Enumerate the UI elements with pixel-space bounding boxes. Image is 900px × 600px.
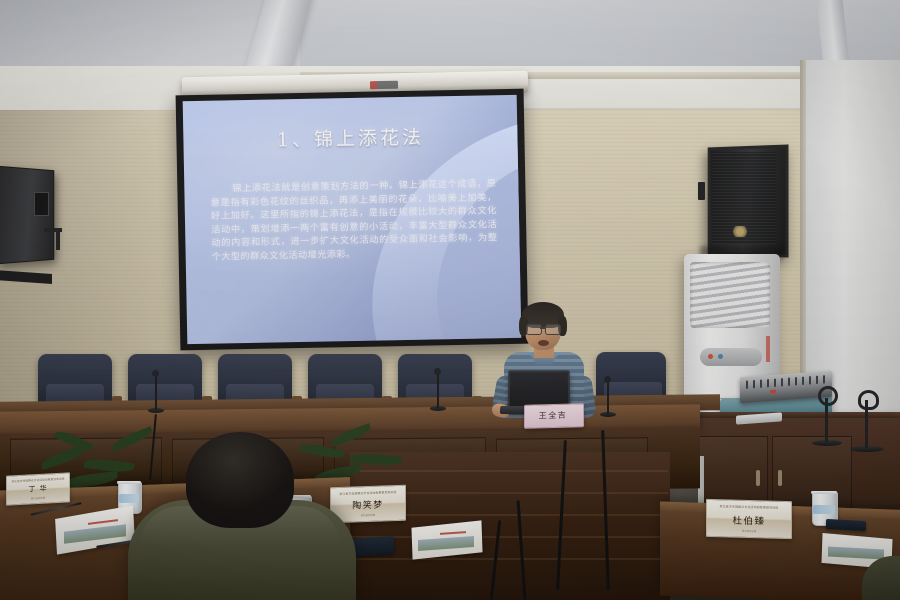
glasses-icon-right-lens [545,324,561,335]
air-conditioner-vent-strip [766,336,770,362]
speaker-bracket-right [698,182,705,200]
nameplate-header: 浙江省文化馆群众文化活动创意策划培训班 [331,490,405,497]
loudspeaker-brand-logo [732,226,748,237]
microphone-icon-5 [604,376,611,383]
desk-mic-rod [155,376,157,410]
nameplate-name: 杜伯臻 [707,512,791,528]
microphone-icon-4 [434,368,441,375]
cabinet-handle-left[interactable] [756,470,760,486]
loudspeaker-left-port [34,192,49,216]
conference-room-photo: 1、锦上添花法 锦上添花法就是创意策划方法的一种。锦上添花这个成语，原意是指有彩… [0,0,900,600]
nameplate-footer: 浙江省文化馆 [331,512,405,519]
wood-slat [352,536,668,538]
nameplate-footer: 浙江省文化馆 [7,494,69,501]
screen-brand-logo [370,81,398,90]
nameplate-front-mid: 浙江省文化馆群众文化活动创意策划培训班 陶笑梦 浙江省文化馆 [330,485,406,524]
power-led-icon [708,354,713,359]
nameplate-front-left: 浙江省文化馆群众文化活动创意策划培训班 丁 华 浙江省文化馆 [6,472,70,505]
speaker-bracket-left-arm [56,228,60,250]
desk-mic-rod [437,374,439,408]
glasses-icon-bridge [540,327,545,329]
cabinet-handle-right[interactable] [778,470,782,486]
notebook[interactable] [826,519,866,531]
desk-mic-rod [607,382,609,414]
presenter-mouth [538,340,549,346]
cup-graphic [119,494,139,503]
nameplate-name: 丁 华 [7,482,69,495]
cup-lid [811,491,837,494]
status-led-icon [718,354,723,359]
plant-leaf [110,426,155,452]
nameplate-name: 陶笑梦 [331,497,405,513]
plant-leaf [39,445,86,470]
mixer-indicator [770,390,776,393]
cup-lid [117,481,141,484]
air-conditioner-grille [690,262,770,328]
cup-graphic [813,505,835,514]
attendee-head [186,432,294,528]
nameplate-header: 浙江省文化馆群众文化活动创意策划培训班 [707,504,791,510]
microphone-icon-3 [152,370,159,377]
microphone-icon-1 [858,390,879,410]
projected-slide: 1、锦上添花法 锦上添花法就是创意策划方法的一种。锦上添花这个成语，原意是指有彩… [183,95,522,344]
wood-slat [352,558,668,560]
nameplate-footer: 浙江省文化馆 [707,528,791,534]
slide-body-text: 锦上添花法就是创意策划方法的一种。锦上添花这个成语，原意是指有彩色花纹的丝织品，… [210,177,498,264]
nameplate-presenter-label: 王全吉 [524,409,582,422]
microphone-icon-2 [818,386,838,406]
nameplate-front-right: 浙江省文化馆群众文化活动创意策划培训班 杜伯臻 浙江省文化馆 [706,499,792,539]
glasses-icon-left-lens [526,324,542,335]
